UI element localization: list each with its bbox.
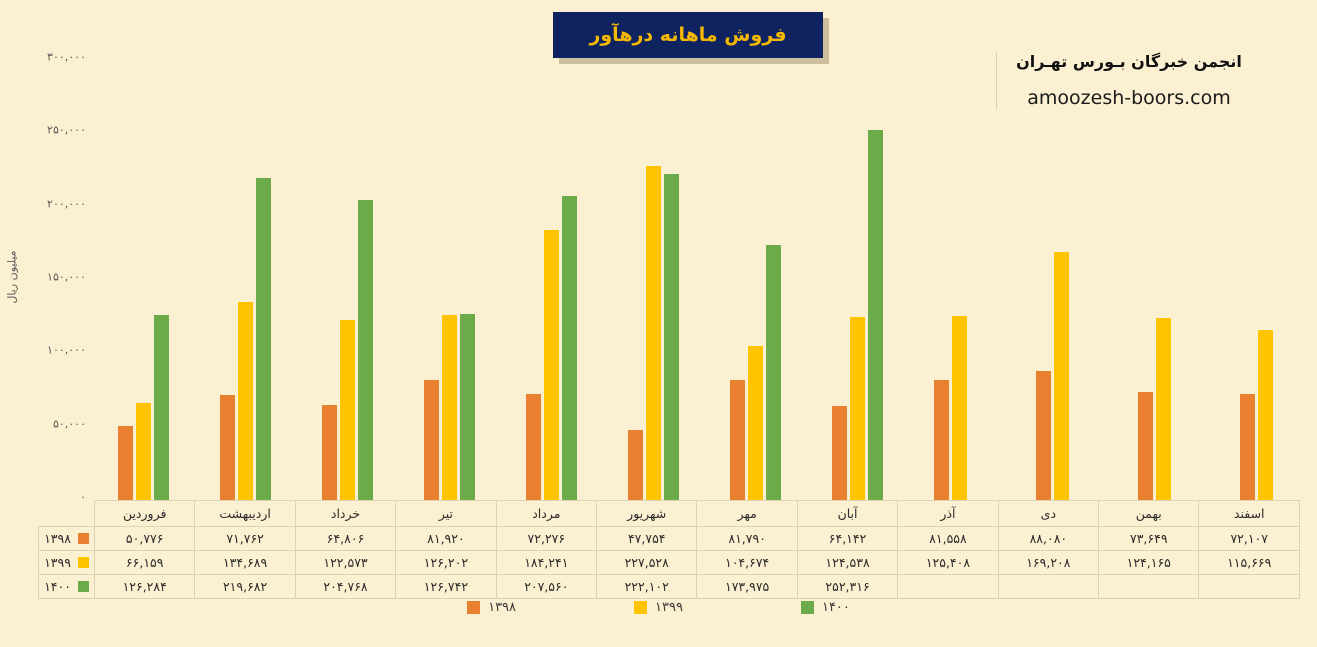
table-column-header: فروردین: [95, 501, 195, 527]
table-cell: ۶۴,۸۰۶: [295, 527, 395, 551]
table-column-header: آذر: [898, 501, 998, 527]
y-axis-tick: ۳۰۰,۰۰۰: [47, 51, 86, 64]
bar-cluster: [92, 55, 194, 500]
bar-cluster: [1011, 55, 1113, 500]
table-cell: [1199, 575, 1300, 599]
page-title: فروش ماهانه درهآور: [589, 24, 786, 46]
table-column-header: مهر: [697, 501, 797, 527]
plot-area: ۳۰۰,۰۰۰۲۵۰,۰۰۰۲۰۰,۰۰۰۱۵۰,۰۰۰۱۰۰,۰۰۰۵۰,۰۰…: [0, 55, 1317, 500]
series-color-swatch-icon: [78, 557, 89, 568]
bar-cluster: [909, 55, 1011, 500]
table-cell: ۲۰۷,۵۶۰: [496, 575, 596, 599]
series-color-swatch-icon: [78, 581, 89, 592]
table-cell: ۱۷۳,۹۷۵: [697, 575, 797, 599]
bar[interactable]: [1156, 318, 1171, 500]
table-cell: ۷۲,۲۷۶: [496, 527, 596, 551]
bar[interactable]: [1054, 252, 1069, 500]
table-column-header: خرداد: [295, 501, 395, 527]
table-cell: [998, 575, 1098, 599]
table-cell: ۱۸۴,۲۴۱: [496, 551, 596, 575]
bar-cluster: [500, 55, 602, 500]
y-axis-tick: ۱۵۰,۰۰۰: [47, 271, 86, 284]
bar-cluster: [807, 55, 909, 500]
chart-page: فروش ماهانه درهآور انجمن خبرگان بـورس ته…: [0, 0, 1317, 647]
chart-title-box: فروش ماهانه درهآور: [553, 12, 823, 58]
legend-color-swatch-icon: [801, 601, 814, 614]
table-cell: ۱۲۶,۲۰۲: [396, 551, 496, 575]
table-row-header: ۱۴۰۰: [39, 575, 95, 599]
bar-cluster: [602, 55, 704, 500]
bar[interactable]: [868, 130, 883, 500]
bar[interactable]: [730, 380, 745, 500]
table-column-header: دی: [998, 501, 1098, 527]
y-axis-tick: ۵۰,۰۰۰: [53, 417, 86, 430]
bar[interactable]: [850, 317, 865, 500]
series-year-label: ۱۳۹۹: [44, 555, 71, 570]
table-cell: ۱۲۵,۴۰۸: [898, 551, 998, 575]
table-cell: ۱۶۹,۲۰۸: [998, 551, 1098, 575]
table-cell: ۲۵۲,۳۱۶: [797, 575, 897, 599]
table-cell: ۸۸,۰۸۰: [998, 527, 1098, 551]
bar[interactable]: [424, 380, 439, 500]
table-row-header: ۱۳۹۹: [39, 551, 95, 575]
table-cell: ۶۶,۱۵۹: [95, 551, 195, 575]
table-cell: ۱۳۴,۶۸۹: [195, 551, 295, 575]
bar-cluster: [194, 55, 296, 500]
table-column-header: شهریور: [597, 501, 697, 527]
series-year-label: ۱۴۰۰: [44, 579, 71, 594]
bar[interactable]: [256, 178, 271, 500]
table-cell: ۶۴,۱۴۲: [797, 527, 897, 551]
bar[interactable]: [628, 430, 643, 500]
table-row: ۱۳۹۹۶۶,۱۵۹۱۳۴,۶۸۹۱۲۲,۵۷۳۱۲۶,۲۰۲۱۸۴,۲۴۱۲۲…: [39, 551, 1300, 575]
y-axis-tick: ۲۰۰,۰۰۰: [47, 197, 86, 210]
bar[interactable]: [136, 403, 151, 500]
bar[interactable]: [934, 380, 949, 500]
series-year-label: ۱۳۹۸: [44, 531, 71, 546]
bar[interactable]: [322, 405, 337, 500]
bars-container: [92, 55, 1317, 500]
table-cell: ۱۲۶,۲۸۴: [95, 575, 195, 599]
legend-item[interactable]: ۱۳۹۹: [634, 600, 683, 615]
table-cell: ۵۰,۷۷۶: [95, 527, 195, 551]
legend-color-swatch-icon: [634, 601, 647, 614]
bar-cluster: [296, 55, 398, 500]
legend-item[interactable]: ۱۳۹۸: [467, 600, 516, 615]
bar[interactable]: [358, 200, 373, 500]
table-column-header: آبان: [797, 501, 897, 527]
table-cell: ۲۲۲,۱۰۲: [597, 575, 697, 599]
bar[interactable]: [832, 406, 847, 500]
table-cell: ۷۲,۱۰۷: [1199, 527, 1300, 551]
bar[interactable]: [952, 316, 967, 500]
data-table: فروردیناردیبهشتخردادتیرمردادشهریورمهرآبا…: [38, 500, 1300, 599]
bar[interactable]: [442, 315, 457, 500]
series-color-swatch-icon: [78, 533, 89, 544]
bar[interactable]: [460, 314, 475, 500]
bar[interactable]: [118, 426, 133, 500]
table-corner-cell: [39, 501, 95, 527]
table-row-header: ۱۳۹۸: [39, 527, 95, 551]
bar[interactable]: [1138, 392, 1153, 500]
table-column-header: اسفند: [1199, 501, 1300, 527]
bar[interactable]: [646, 166, 661, 500]
y-axis-tick: ۲۵۰,۰۰۰: [47, 124, 86, 137]
table-cell: ۱۰۴,۶۷۴: [697, 551, 797, 575]
bar[interactable]: [664, 174, 679, 500]
legend: ۱۳۹۸۱۳۹۹۱۴۰۰: [0, 600, 1317, 615]
table-cell: [898, 575, 998, 599]
table-column-header: بهمن: [1099, 501, 1199, 527]
bar[interactable]: [340, 320, 355, 500]
table-column-header: اردیبهشت: [195, 501, 295, 527]
data-table-wrapper: فروردیناردیبهشتخردادتیرمردادشهریورمهرآبا…: [38, 500, 1300, 599]
bar[interactable]: [238, 302, 253, 500]
bar-cluster: [704, 55, 806, 500]
table-cell: ۸۱,۹۲۰: [396, 527, 496, 551]
bar[interactable]: [526, 394, 541, 500]
legend-color-swatch-icon: [467, 601, 480, 614]
table-cell: ۱۲۴,۱۶۵: [1099, 551, 1199, 575]
bar[interactable]: [154, 315, 169, 500]
table-cell: ۲۰۴,۷۶۸: [295, 575, 395, 599]
table-cell: ۷۳,۶۴۹: [1099, 527, 1199, 551]
table-cell: ۱۲۴,۵۳۸: [797, 551, 897, 575]
table-row: ۱۴۰۰۱۲۶,۲۸۴۲۱۹,۶۸۲۲۰۴,۷۶۸۱۲۶,۷۴۲۲۰۷,۵۶۰۲…: [39, 575, 1300, 599]
table-column-header: مرداد: [496, 501, 596, 527]
table-cell: ۷۱,۷۶۲: [195, 527, 295, 551]
table-cell: ۱۲۶,۷۴۲: [396, 575, 496, 599]
table-cell: ۲۲۷,۵۲۸: [597, 551, 697, 575]
bar-cluster: [398, 55, 500, 500]
legend-label: ۱۳۹۸: [488, 600, 516, 615]
table-header-row: فروردیناردیبهشتخردادتیرمردادشهریورمهرآبا…: [39, 501, 1300, 527]
bar[interactable]: [220, 395, 235, 500]
bar-cluster: [1113, 55, 1215, 500]
bar-cluster: [1215, 55, 1317, 500]
y-axis-title: میلیون ریال: [6, 250, 19, 303]
table-row: ۱۳۹۸۵۰,۷۷۶۷۱,۷۶۲۶۴,۸۰۶۸۱,۹۲۰۷۲,۲۷۶۴۷,۷۵۴…: [39, 527, 1300, 551]
table-cell: ۸۱,۷۹۰: [697, 527, 797, 551]
table-cell: ۱۲۲,۵۷۳: [295, 551, 395, 575]
legend-label: ۱۳۹۹: [655, 600, 683, 615]
table-cell: ۲۱۹,۶۸۲: [195, 575, 295, 599]
legend-label: ۱۴۰۰: [822, 600, 850, 615]
bar[interactable]: [766, 245, 781, 500]
table-cell: ۴۷,۷۵۴: [597, 527, 697, 551]
table-column-header: تیر: [396, 501, 496, 527]
table-cell: ۸۱,۵۵۸: [898, 527, 998, 551]
bar[interactable]: [748, 346, 763, 500]
table-cell: [1099, 575, 1199, 599]
bar[interactable]: [1258, 330, 1273, 500]
bar[interactable]: [1036, 371, 1051, 500]
table-cell: ۱۱۵,۶۶۹: [1199, 551, 1300, 575]
bar[interactable]: [544, 230, 559, 500]
bar[interactable]: [562, 196, 577, 500]
y-axis-tick: ۱۰۰,۰۰۰: [47, 344, 86, 357]
legend-item[interactable]: ۱۴۰۰: [801, 600, 850, 615]
bar[interactable]: [1240, 394, 1255, 500]
